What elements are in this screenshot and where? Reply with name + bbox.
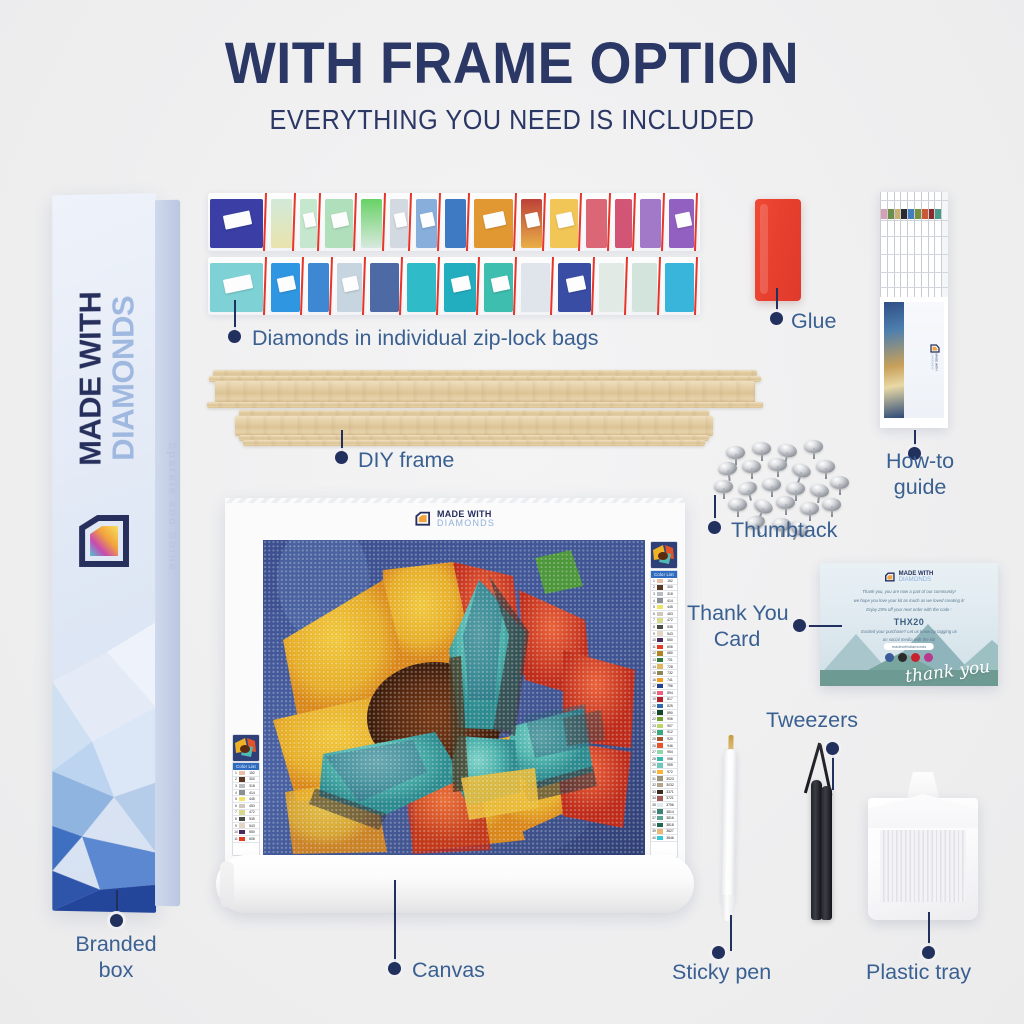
- color-row-code: 550: [245, 830, 259, 834]
- color-list-row: 5445: [233, 796, 259, 803]
- color-list-row: 333371: [651, 789, 677, 796]
- card-url[interactable]: madewithdiamonds: [884, 643, 934, 650]
- color-list-row: 25920: [651, 736, 677, 743]
- color-list-row: 20825: [651, 703, 677, 710]
- color-row-code: 972: [663, 770, 677, 774]
- page-title: WITH FRAME OPTION: [36, 30, 988, 97]
- color-row-code: 912: [663, 730, 677, 734]
- color-row-code: 550: [663, 638, 677, 642]
- color-list-row: 21890: [651, 710, 677, 717]
- zip-bag-row-top: [208, 193, 700, 251]
- plastic-tray: [868, 772, 978, 920]
- color-list-row: 10550: [233, 829, 259, 836]
- color-row-code: 946: [663, 744, 677, 748]
- color-rows-right: 1152230033184414544564537472853595431055…: [651, 578, 677, 842]
- color-list-row: 353756: [651, 802, 677, 809]
- color-row-code: 300: [245, 777, 259, 781]
- color-list-row: 14728: [651, 664, 677, 671]
- color-row-code: 907: [663, 724, 677, 728]
- canvas-top-edge: [225, 498, 685, 503]
- color-row-code: 318: [245, 784, 259, 788]
- page-subtitle: EVERYTHING YOU NEED IS INCLUDED: [51, 104, 973, 136]
- color-list-row: 6453: [233, 803, 259, 810]
- svg-text:DIAMONDS: DIAMONDS: [931, 354, 935, 370]
- callout-sticky-pen: Sticky pen: [672, 960, 771, 985]
- color-list-row: 15732: [651, 670, 677, 677]
- color-list-row: 1152: [233, 770, 259, 777]
- color-list-row: 12680: [651, 651, 677, 658]
- color-list-row: 7472: [651, 618, 677, 625]
- canvas-dot: [388, 962, 401, 975]
- zip-bags-dot: [228, 330, 241, 343]
- canvas-brand-logo: MADE WITH DIAMONDS: [415, 510, 495, 529]
- color-row-code: 3827: [663, 829, 677, 833]
- color-rows-left: 1152230033184414544564537472853595431055…: [233, 770, 259, 843]
- card-text-line3: Enjoy 20% off your next order with the c…: [866, 607, 952, 612]
- sticky-pen: [721, 733, 737, 921]
- color-row-code: 894: [663, 691, 677, 695]
- color-list-row: 9543: [651, 631, 677, 638]
- color-row-code: 445: [245, 797, 259, 801]
- color-row-code: 3721: [663, 796, 677, 800]
- color-row-code: 453: [245, 804, 259, 808]
- diamond-logo-icon: [885, 572, 896, 582]
- plastic-tray-leader: [928, 912, 930, 950]
- color-row-code: 959: [663, 763, 677, 767]
- callout-thumbtack: Thumbtack: [731, 518, 837, 543]
- pen-body: [722, 749, 738, 905]
- card-discount-code: THX20: [894, 617, 925, 627]
- plastic-tray-dot: [922, 946, 935, 959]
- color-row-code: 3371: [663, 790, 677, 794]
- infographic-canvas: WITH FRAME OPTION EVERYTHING YOU NEED IS…: [0, 0, 1024, 1024]
- color-row-code: 958: [663, 757, 677, 761]
- instagram-icon[interactable]: [924, 653, 933, 662]
- color-row-code: 535: [245, 817, 259, 821]
- branded-box-spine: Sparkle and Shine: [155, 200, 180, 907]
- color-list-row: 18894: [651, 690, 677, 697]
- color-row-code: 954: [663, 750, 677, 754]
- canvas-artwork: [263, 540, 645, 856]
- guide-cover-card: MADE WITH DIAMONDS: [884, 302, 944, 418]
- callout-thank-you-card: Thank You Card: [687, 601, 787, 653]
- box-geometric-pattern: [52, 622, 156, 913]
- color-row-code: 300: [663, 585, 677, 589]
- color-list-row: 2300: [233, 777, 259, 784]
- box-brand-text: MADE WITH DIAMONDS: [73, 213, 142, 544]
- polygon-pattern-svg: [52, 622, 156, 913]
- tweezers: [800, 742, 842, 920]
- color-row-code: 890: [663, 711, 677, 715]
- color-row-code: 152: [663, 579, 677, 583]
- color-row-code: 543: [663, 632, 677, 636]
- color-list-row: 24912: [651, 730, 677, 737]
- canvas-color-list-left: Color List 11522300331844145445645374728…: [233, 763, 259, 855]
- tweezers-leader: [832, 750, 834, 790]
- branded-box-front: MADE WITH DIAMONDS: [52, 193, 156, 913]
- box-brand-line1: MADE WITH: [73, 214, 109, 544]
- color-row-code: 796: [663, 684, 677, 688]
- color-row-code: 732: [663, 671, 677, 675]
- color-row-code: 825: [663, 704, 677, 708]
- color-row-code: 680: [663, 651, 677, 655]
- twitter-icon[interactable]: [898, 653, 907, 662]
- color-list-row: 1152: [651, 578, 677, 585]
- color-row-code: 3816: [663, 816, 677, 820]
- card-text-line1: Thank you, you are now a part of our com…: [862, 589, 955, 594]
- callout-how-to-guide: How-to guide: [886, 449, 954, 501]
- card-brand-logo: MADE WITH DIAMONDS: [885, 571, 934, 583]
- color-list-row: 383818: [651, 822, 677, 829]
- tweezers-dot: [826, 742, 839, 755]
- color-row-code: 453: [663, 612, 677, 616]
- callout-zip-bags: Diamonds in individual zip-lock bags: [252, 326, 599, 351]
- color-list-row: 17796: [651, 684, 677, 691]
- color-row-code: 3756: [663, 803, 677, 807]
- color-row-code: 3032: [663, 783, 677, 787]
- color-list-row: 11606: [651, 644, 677, 651]
- box-tagline: Sparkle and Shine: [166, 422, 178, 593]
- glue-bottle: [755, 199, 801, 301]
- color-row-code: 701: [663, 658, 677, 662]
- color-list-row: 19817: [651, 697, 677, 704]
- thank-you-card-leader: [800, 625, 842, 627]
- zip-bag-row-bottom: [208, 257, 700, 315]
- canvas-preview-thumb-left: [233, 735, 259, 761]
- color-list-row: 313023: [651, 776, 677, 783]
- color-list-row: 22906: [651, 716, 677, 723]
- color-list-row: 403846: [651, 835, 677, 842]
- branded-box-dot: [110, 914, 123, 927]
- diamond-gradient-logo-icon: [76, 514, 132, 570]
- guide-brand-logo-icon: MADE WITH DIAMONDS: [908, 344, 942, 374]
- canvas-rolled-edge: [216, 855, 694, 913]
- card-text-line5: on social media with the kit!: [883, 637, 936, 642]
- guide-color-table: [880, 192, 948, 297]
- color-list-row: 27954: [651, 749, 677, 756]
- card-brand-line2: DIAMONDS: [899, 577, 934, 583]
- color-list-row: 7472: [233, 810, 259, 817]
- diy-frame-dot: [335, 451, 348, 464]
- color-list-row: 4414: [651, 598, 677, 605]
- branded-box: MADE WITH DIAMONDS Sparkle and Shine: [52, 193, 180, 914]
- sticky-pen-leader: [730, 915, 732, 951]
- color-row-code: 472: [663, 618, 677, 622]
- color-list-row: 363814: [651, 809, 677, 816]
- color-list-header-left: Color List: [233, 763, 259, 770]
- color-row-code: 606: [245, 837, 259, 841]
- tweezer-arm-right: [821, 786, 832, 920]
- callout-diy-frame: DIY frame: [358, 448, 454, 473]
- color-row-code: 543: [245, 824, 259, 828]
- color-list-row: 26946: [651, 743, 677, 750]
- glue-dot: [770, 312, 783, 325]
- color-row-code: 3814: [663, 810, 677, 814]
- thank-you-card: MADE WITH DIAMONDS Thank you, you are no…: [820, 563, 998, 686]
- color-row-code: 472: [245, 810, 259, 814]
- facebook-icon[interactable]: [885, 653, 894, 662]
- color-row-code: 606: [663, 645, 677, 649]
- diy-frame-bars: [205, 368, 765, 458]
- color-list-row: 5445: [651, 604, 677, 611]
- card-text-line2: we hope you love your kit as much as we …: [854, 598, 965, 603]
- color-list-row: 23907: [651, 723, 677, 730]
- canvas-color-list-right: Color List 11522300331844145445645374728…: [651, 571, 677, 857]
- color-list-row: 16741: [651, 677, 677, 684]
- canvas-preview-thumb-right: [651, 542, 677, 568]
- color-row-code: 741: [663, 678, 677, 682]
- color-list-row: 2300: [651, 585, 677, 592]
- pinterest-icon[interactable]: [911, 653, 920, 662]
- color-list-row: 343721: [651, 796, 677, 803]
- color-row-code: 445: [663, 605, 677, 609]
- color-row-code: 3023: [663, 777, 677, 781]
- color-list-row: 28958: [651, 756, 677, 763]
- color-row-code: 414: [245, 791, 259, 795]
- callout-plastic-tray: Plastic tray: [866, 960, 971, 985]
- color-list-row: 9543: [233, 823, 259, 830]
- box-brand-line2: DIAMONDS: [106, 213, 142, 544]
- color-list-row: 8535: [651, 624, 677, 631]
- sticky-pen-dot: [712, 946, 725, 959]
- color-list-row: 30972: [651, 769, 677, 776]
- canvas-leader: [394, 880, 396, 966]
- thumbtack-dot: [708, 521, 721, 534]
- color-row-code: 920: [663, 737, 677, 741]
- thank-you-card-dot: [793, 619, 806, 632]
- svg-text:MADE WITH: MADE WITH: [935, 354, 939, 371]
- diamond-grid-overlay: [263, 540, 645, 856]
- color-row-code: 318: [663, 592, 677, 596]
- callout-tweezers: Tweezers: [766, 708, 858, 733]
- color-row-code: 535: [663, 625, 677, 629]
- color-row-code: 3846: [663, 836, 677, 840]
- color-row-code: 414: [663, 599, 677, 603]
- color-list-row: 3318: [233, 783, 259, 790]
- color-row-code: 817: [663, 697, 677, 701]
- color-list-row: 4414: [233, 790, 259, 797]
- canvas-brand-line2: DIAMONDS: [437, 519, 495, 528]
- tray-grooves: [880, 830, 966, 902]
- card-social-icons: [885, 653, 933, 662]
- color-list-row: 393827: [651, 829, 677, 836]
- callout-glue: Glue: [791, 309, 836, 334]
- color-list-row: 3318: [651, 591, 677, 598]
- color-list-row: 13701: [651, 657, 677, 664]
- diamond-painting-canvas: MADE WITH DIAMONDS: [225, 498, 685, 888]
- color-row-code: 3818: [663, 823, 677, 827]
- card-text-line4: Excited your purchase? Let us know by ta…: [861, 629, 957, 634]
- color-row-code: 728: [663, 665, 677, 669]
- color-list-row: 11606: [233, 836, 259, 843]
- color-list-row: 373816: [651, 815, 677, 822]
- color-list-row: 323032: [651, 782, 677, 789]
- how-to-guide-booklet: MADE WITH DIAMONDS: [880, 192, 948, 428]
- color-list-row: 8535: [233, 816, 259, 823]
- color-list-row: 6453: [651, 611, 677, 618]
- color-list-header-right: Color List: [651, 571, 677, 578]
- callout-branded-box: Branded box: [66, 932, 166, 984]
- diamond-logo-icon: [415, 511, 432, 527]
- color-list-row: 10550: [651, 637, 677, 644]
- color-row-code: 152: [245, 771, 259, 775]
- color-row-code: 906: [663, 717, 677, 721]
- pen-cap: [721, 895, 734, 921]
- color-list-row: 29959: [651, 763, 677, 770]
- callout-canvas: Canvas: [412, 958, 485, 983]
- guide-cover-photo: [884, 302, 904, 418]
